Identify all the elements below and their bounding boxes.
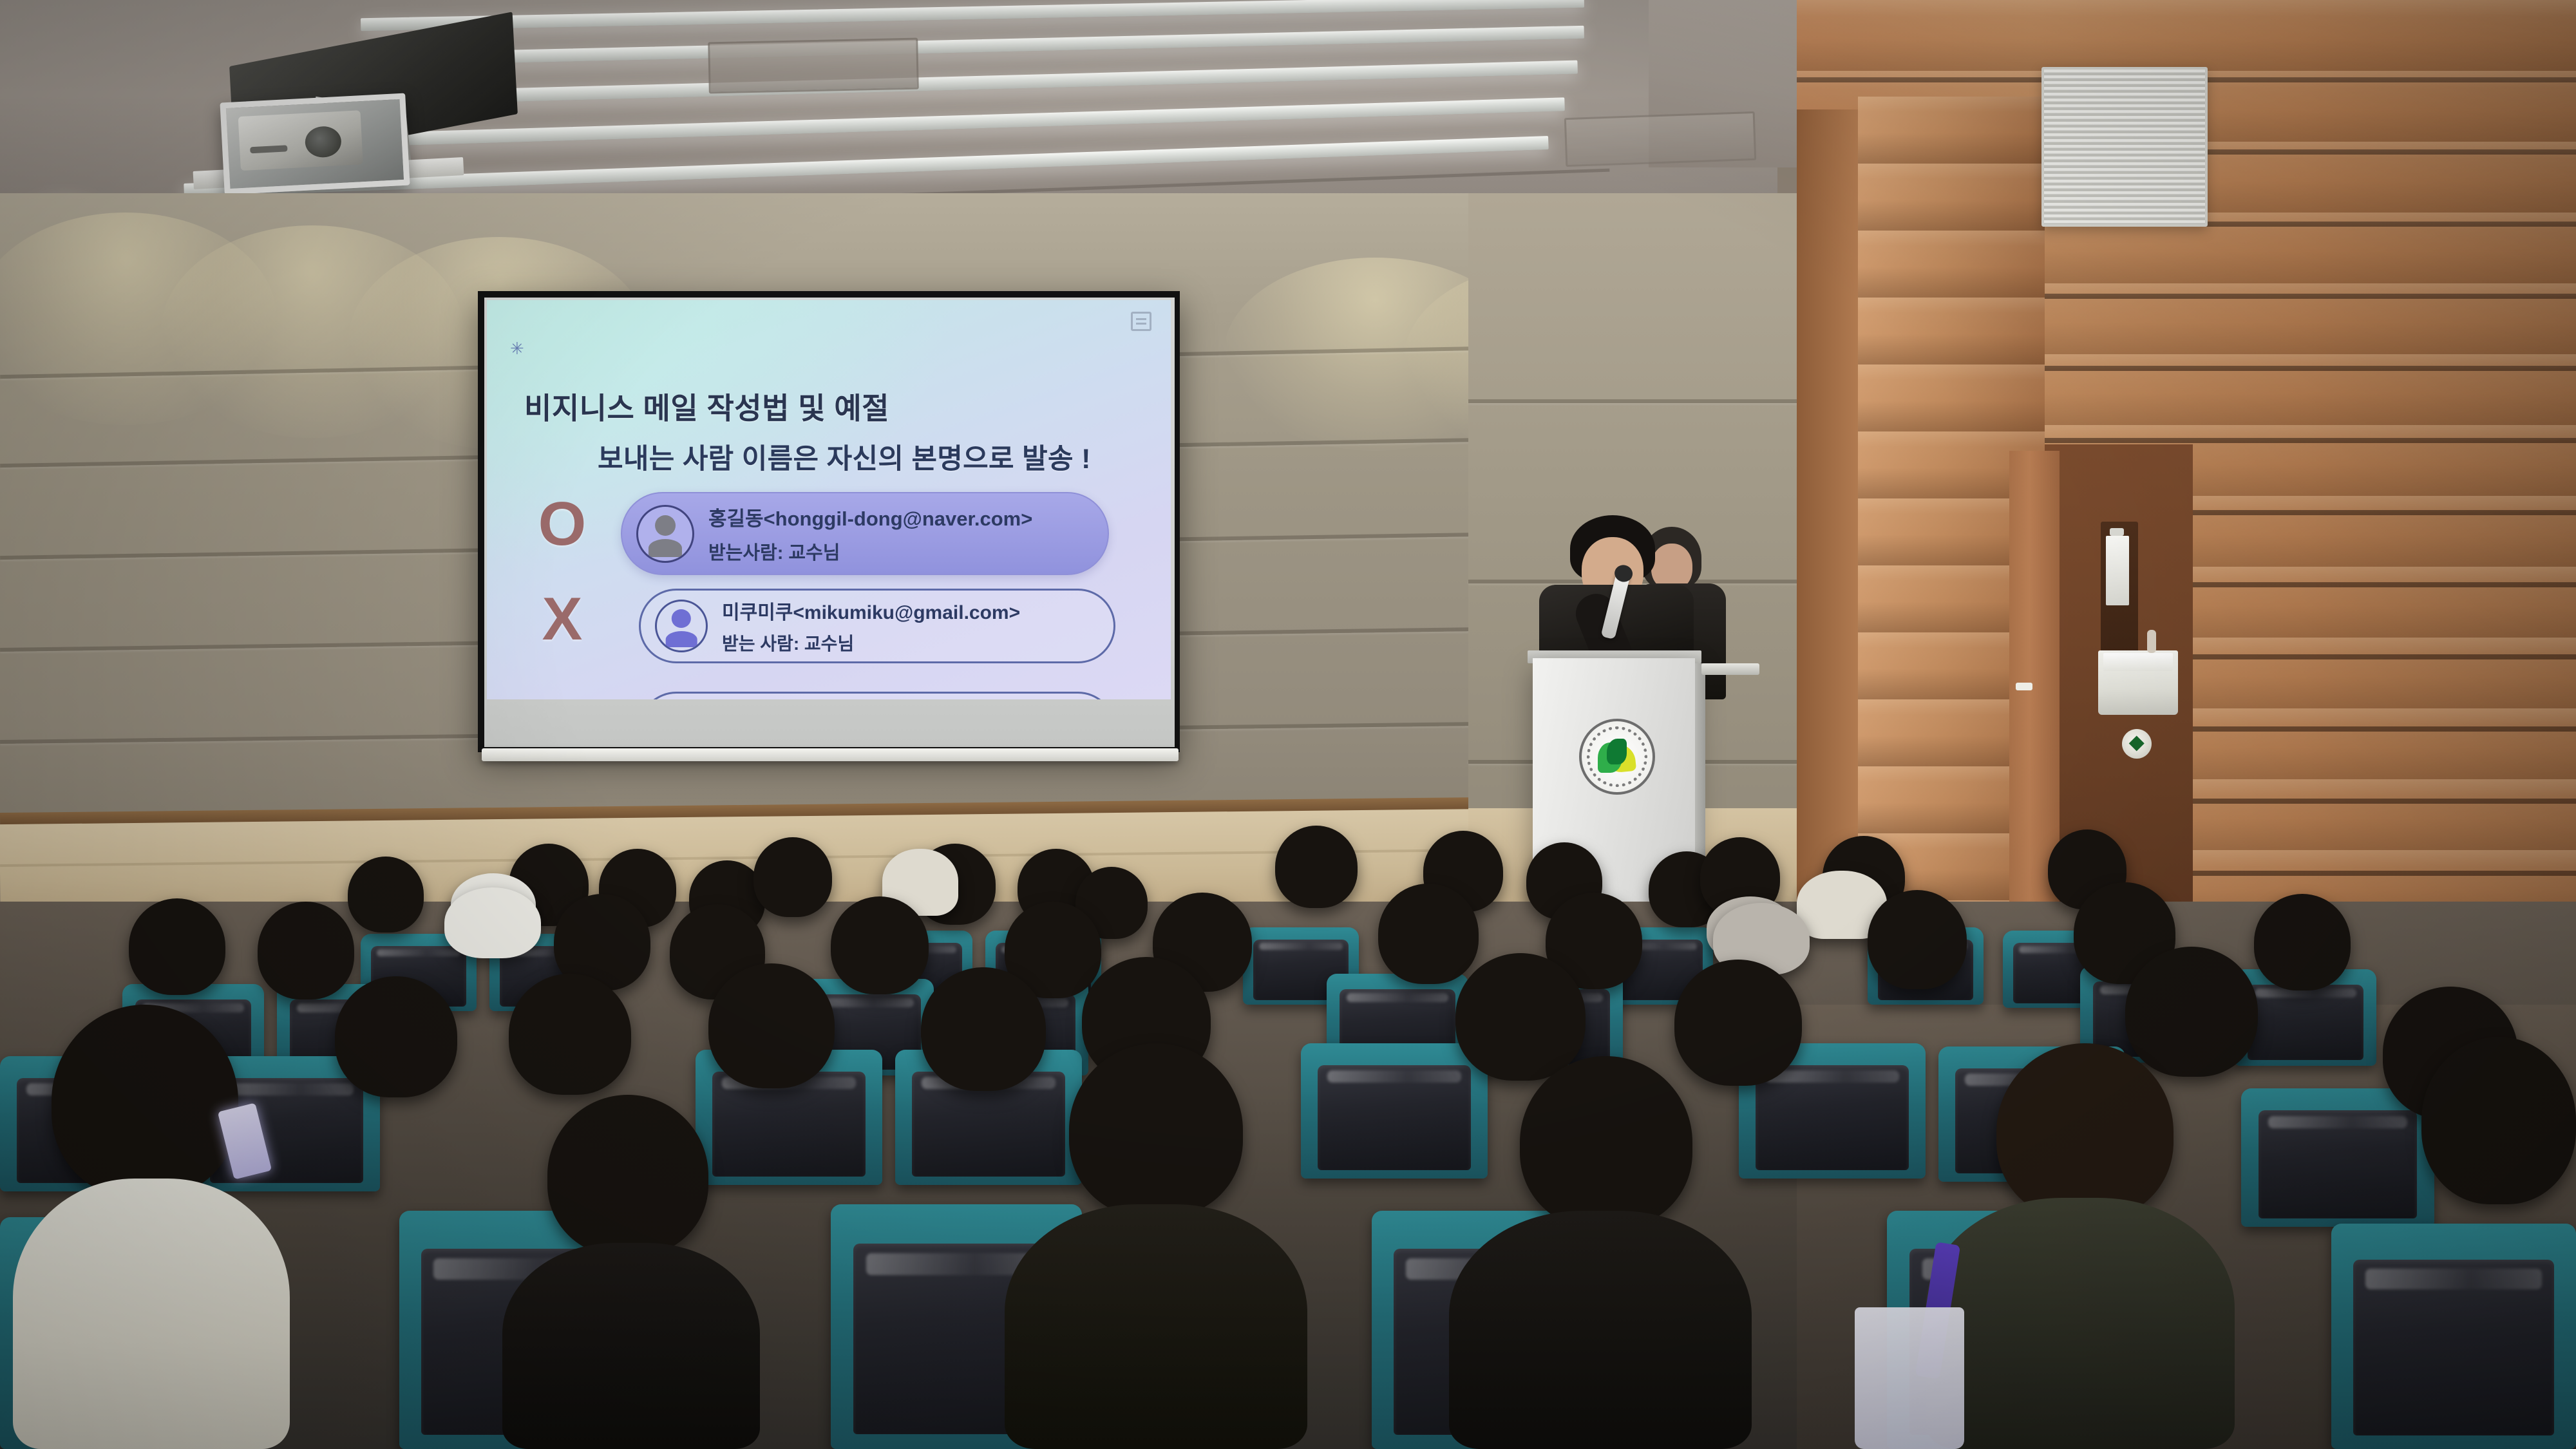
seat[interactable] — [2241, 1088, 2434, 1227]
audience-head — [52, 1005, 238, 1198]
audience-head-with-cap — [444, 887, 541, 958]
avatar — [655, 600, 708, 652]
lectern-shelf — [1701, 663, 1759, 675]
wall-hook — [2147, 630, 2156, 653]
control-panel-indicator — [2110, 528, 2124, 536]
row-mark-wrong: X — [533, 589, 591, 649]
tote-bag — [1855, 1307, 1964, 1449]
email-address: 미쿠미쿠<mikumiku@gmail.com> — [722, 596, 1020, 625]
presentation-slide: ✳ 비지니스 메일 작성법 및 예절 보내는 사람 이름은 자신의 본명으로 발… — [487, 300, 1171, 699]
seat[interactable] — [2331, 1224, 2576, 1449]
slide-title: 비지니스 메일 작성법 및 예절 — [524, 385, 889, 428]
audience-head — [1868, 890, 1967, 989]
audience-head — [258, 902, 354, 999]
audience-head — [1378, 884, 1479, 984]
control-panel-display — [2106, 536, 2129, 605]
email-row: 해달사랑단<hydra@gmail.com> 받는 사람: 교수님 — [639, 692, 1115, 699]
email-row: 미쿠미쿠<mikumiku@gmail.com> 받는 사람: 교수님 — [639, 589, 1115, 663]
ceiling-air-vent — [2041, 67, 2208, 227]
projector-cage — [220, 93, 410, 195]
audience-head — [1455, 953, 1586, 1081]
door-handle[interactable] — [2016, 683, 2032, 690]
ceiling-vent — [1564, 111, 1756, 167]
audience-head — [1674, 960, 1802, 1086]
avatar — [636, 505, 694, 563]
audience-head — [1069, 1043, 1243, 1217]
audience-shoulders — [1926, 1198, 2235, 1449]
audience-head — [2254, 894, 2351, 990]
email-address: 홍길동<honggil-dong@naver.com> — [708, 502, 1032, 531]
audience-shoulders — [1005, 1204, 1307, 1449]
audience-head — [129, 898, 225, 995]
slide-watermark-icon — [1131, 312, 1151, 331]
audience-head — [1996, 1043, 2173, 1220]
sparkle-icon: ✳ — [510, 340, 524, 357]
ceiling-vent — [708, 38, 919, 94]
white-puffer-jacket — [13, 1179, 290, 1449]
audience-head — [831, 896, 929, 994]
row-mark-correct: O — [533, 493, 591, 555]
screen-bottom-bar — [482, 748, 1179, 761]
audience-head — [509, 974, 631, 1095]
email-recipient: 받는 사람: 교수님 — [722, 630, 1020, 656]
slide-subtitle: 보내는 사람 이름은 자신의 본명으로 발송 ! — [598, 437, 1091, 477]
audience-head — [2125, 947, 2258, 1077]
audience-head — [348, 857, 424, 933]
email-row: 홍길동<honggil-dong@naver.com> 받는사람: 교수님 — [621, 492, 1109, 575]
audience-head — [708, 963, 835, 1088]
audience-head — [335, 976, 457, 1097]
projector-body — [238, 110, 363, 171]
university-emblem — [1579, 719, 1655, 795]
audience-head — [921, 967, 1046, 1091]
audience-shoulders — [1449, 1211, 1752, 1449]
audience-head — [547, 1095, 708, 1256]
auditorium-photo: ✳ 비지니스 메일 작성법 및 예절 보내는 사람 이름은 자신의 본명으로 발… — [0, 0, 2576, 1449]
row-mark-wrong: X — [533, 692, 591, 699]
audience-head — [1275, 826, 1358, 908]
seat[interactable] — [1301, 1043, 1488, 1179]
audience-head — [753, 837, 832, 917]
exit-indicator-icon — [2122, 729, 2152, 759]
document-holder-papers — [2103, 653, 2173, 671]
audience-head — [2421, 1037, 2576, 1204]
wall-seam — [1468, 399, 1810, 403]
emblem-mark — [1596, 735, 1638, 778]
audience-head — [1520, 1056, 1692, 1229]
audience-shoulders — [502, 1243, 760, 1449]
email-recipient: 받는사람: 교수님 — [708, 538, 1032, 565]
